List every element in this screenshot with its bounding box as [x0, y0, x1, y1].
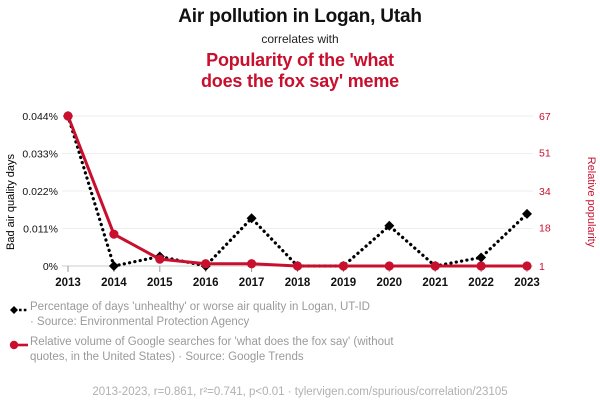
- circle-solid-line-marker-icon: [4, 337, 30, 353]
- legend-label-air-quality-line2: · Source: Environmental Protection Agenc…: [30, 316, 249, 328]
- left-axis-title: Bad air quality days: [5, 154, 17, 250]
- legend-label-air-quality-line1: Percentage of days 'unhealthy' or worse …: [30, 301, 370, 313]
- x-axis-tick-2019: 2019: [331, 277, 357, 289]
- data-point-2023-series-0[interactable]: [522, 209, 532, 219]
- data-point-2017-series-1[interactable]: [247, 259, 256, 268]
- data-point-2013-series-1[interactable]: [63, 111, 72, 120]
- right-axis-tick-labels: 118345167: [539, 111, 551, 273]
- data-point-2014-series-0[interactable]: [109, 261, 119, 271]
- x-axis-tick-labels: 2013201420152016201720182019202020212022…: [55, 277, 540, 289]
- legend-label-air-quality: Percentage of days 'unhealthy' or worse …: [30, 300, 370, 329]
- chart-title-block: Air pollution in Logan, Utah correlates …: [0, 0, 600, 92]
- data-point-2023-series-1[interactable]: [522, 261, 531, 270]
- x-axis-tick-2022: 2022: [468, 277, 494, 289]
- left-axis-tick-1: 0.011%: [23, 224, 58, 236]
- data-point-2018-series-1[interactable]: [293, 261, 302, 270]
- x-axis-tick-2020: 2020: [377, 277, 403, 289]
- chart-footer-stats: 2013-2023, r=0.861, r²=0.741, p<0.01 · t…: [0, 386, 600, 398]
- right-axis-tick-0: 1: [539, 261, 545, 273]
- data-point-2022-series-1[interactable]: [477, 261, 486, 270]
- chart-title-secondary-line1: Popularity of the 'what: [0, 50, 600, 71]
- data-point-2019-series-1[interactable]: [339, 261, 348, 270]
- left-axis-tick-labels: 0%0.011%0.022%0.033%0.044%: [22, 111, 58, 273]
- legend-item-google-trends: Relative volume of Google searches for '…: [0, 335, 600, 364]
- correlation-line-chart: 0%0.011%0.022%0.033%0.044% 118345167 201…: [0, 104, 600, 300]
- left-axis-tick-0: 0%: [43, 261, 58, 273]
- right-axis-title: Relative popularity: [585, 157, 597, 248]
- legend-label-google-trends: Relative volume of Google searches for '…: [30, 335, 394, 364]
- x-axis-tick-2023: 2023: [514, 277, 540, 289]
- chart-title-connector: correlates with: [0, 30, 600, 48]
- x-axis-tick-2021: 2021: [422, 277, 448, 289]
- data-point-2016-series-1[interactable]: [201, 259, 210, 268]
- chart-area: 0%0.011%0.022%0.033%0.044% 118345167 201…: [0, 104, 600, 300]
- data-point-2014-series-1[interactable]: [109, 230, 118, 239]
- x-axis-tick-2017: 2017: [239, 277, 265, 289]
- left-axis-tick-3: 0.033%: [22, 149, 58, 161]
- right-axis-tick-3: 51: [539, 147, 551, 159]
- data-point-2021-series-1[interactable]: [431, 261, 440, 270]
- x-axis-tick-2018: 2018: [285, 277, 311, 289]
- chart-title-secondary-line2: does the fox say' meme: [0, 71, 600, 92]
- legend-label-google-trends-line1: Relative volume of Google searches for '…: [30, 336, 394, 348]
- left-axis-tick-4: 0.044%: [22, 111, 58, 123]
- legend-item-air-quality: Percentage of days 'unhealthy' or worse …: [0, 300, 600, 329]
- chart-legend: Percentage of days 'unhealthy' or worse …: [0, 300, 600, 370]
- x-axis-tick-2016: 2016: [193, 277, 219, 289]
- right-axis-tick-4: 67: [539, 111, 551, 123]
- chart-title-secondary: Popularity of the 'what does the fox say…: [0, 50, 600, 92]
- left-axis-tick-2: 0.022%: [22, 186, 58, 198]
- x-axis-tick-2015: 2015: [147, 277, 173, 289]
- data-point-2015-series-1[interactable]: [155, 255, 164, 264]
- data-point-2020-series-1[interactable]: [385, 261, 394, 270]
- diamond-dotted-line-marker-icon: [4, 302, 30, 318]
- x-axis-tick-2014: 2014: [101, 277, 127, 289]
- right-axis-tick-2: 34: [539, 186, 551, 198]
- data-point-2022-series-0[interactable]: [476, 252, 486, 262]
- legend-label-google-trends-line2: quotes, in the United States) · Source: …: [30, 351, 304, 363]
- right-axis-tick-1: 18: [539, 222, 551, 234]
- chart-title-primary: Air pollution in Logan, Utah: [0, 6, 600, 28]
- x-axis-tick-2013: 2013: [55, 277, 81, 289]
